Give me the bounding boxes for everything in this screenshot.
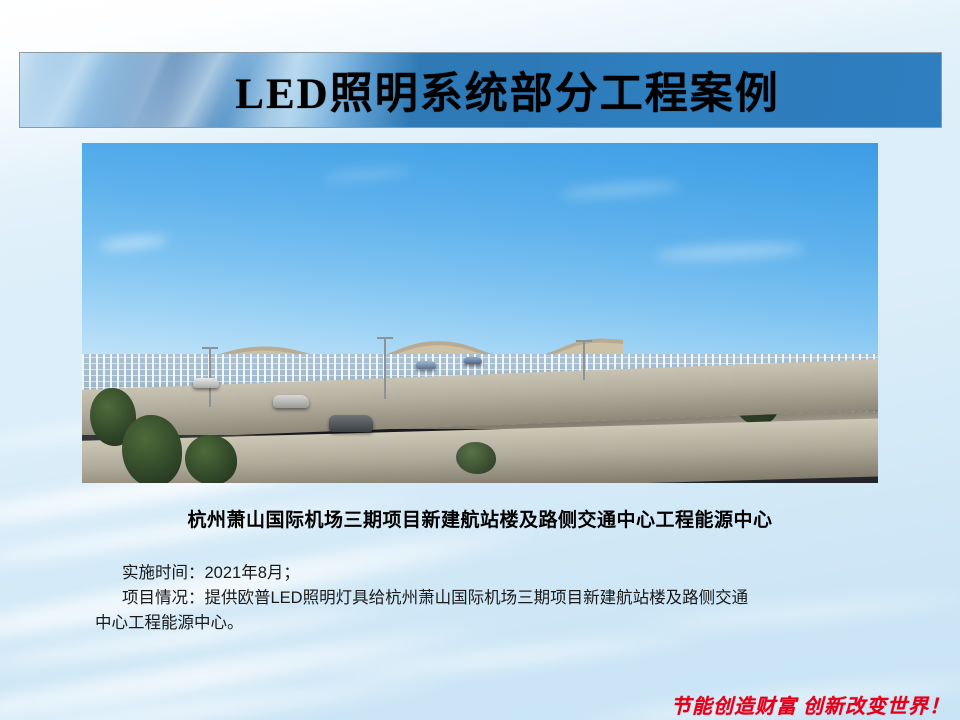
project-photo-scene (82, 143, 878, 483)
car (416, 361, 436, 369)
car (329, 415, 373, 432)
street-light-pole (384, 337, 386, 399)
slide-canvas: LED照明系统部分工程案例 (0, 0, 960, 720)
slide-title: LED照明系统部分工程案例 (181, 59, 779, 121)
project-details: 实施时间：2021年8月； 项目情况：提供欧普LED照明灯具给杭州萧山国际机场三… (95, 561, 855, 636)
cloud-streak (0, 666, 459, 720)
detail-line-project-overview-continued: 中心工程能源中心。 (95, 611, 855, 636)
car (193, 378, 219, 388)
tree (185, 435, 237, 483)
tree (122, 415, 182, 483)
footer-slogan: 节能创造财富 创新改变世界！ (671, 690, 950, 719)
car (464, 357, 482, 364)
project-photo (82, 143, 878, 483)
photo-caption: 杭州萧山国际机场三期项目新建航站楼及路侧交通中心工程能源中心 (0, 505, 960, 532)
tree (456, 442, 496, 474)
car (273, 395, 309, 408)
street-light-pole (583, 340, 585, 380)
detail-line-implementation-date: 实施时间：2021年8月； (95, 561, 855, 586)
title-banner: LED照明系统部分工程案例 (19, 52, 942, 128)
detail-line-project-overview: 项目情况：提供欧普LED照明灯具给杭州萧山国际机场三期项目新建航站楼及路侧交通 (95, 586, 855, 611)
